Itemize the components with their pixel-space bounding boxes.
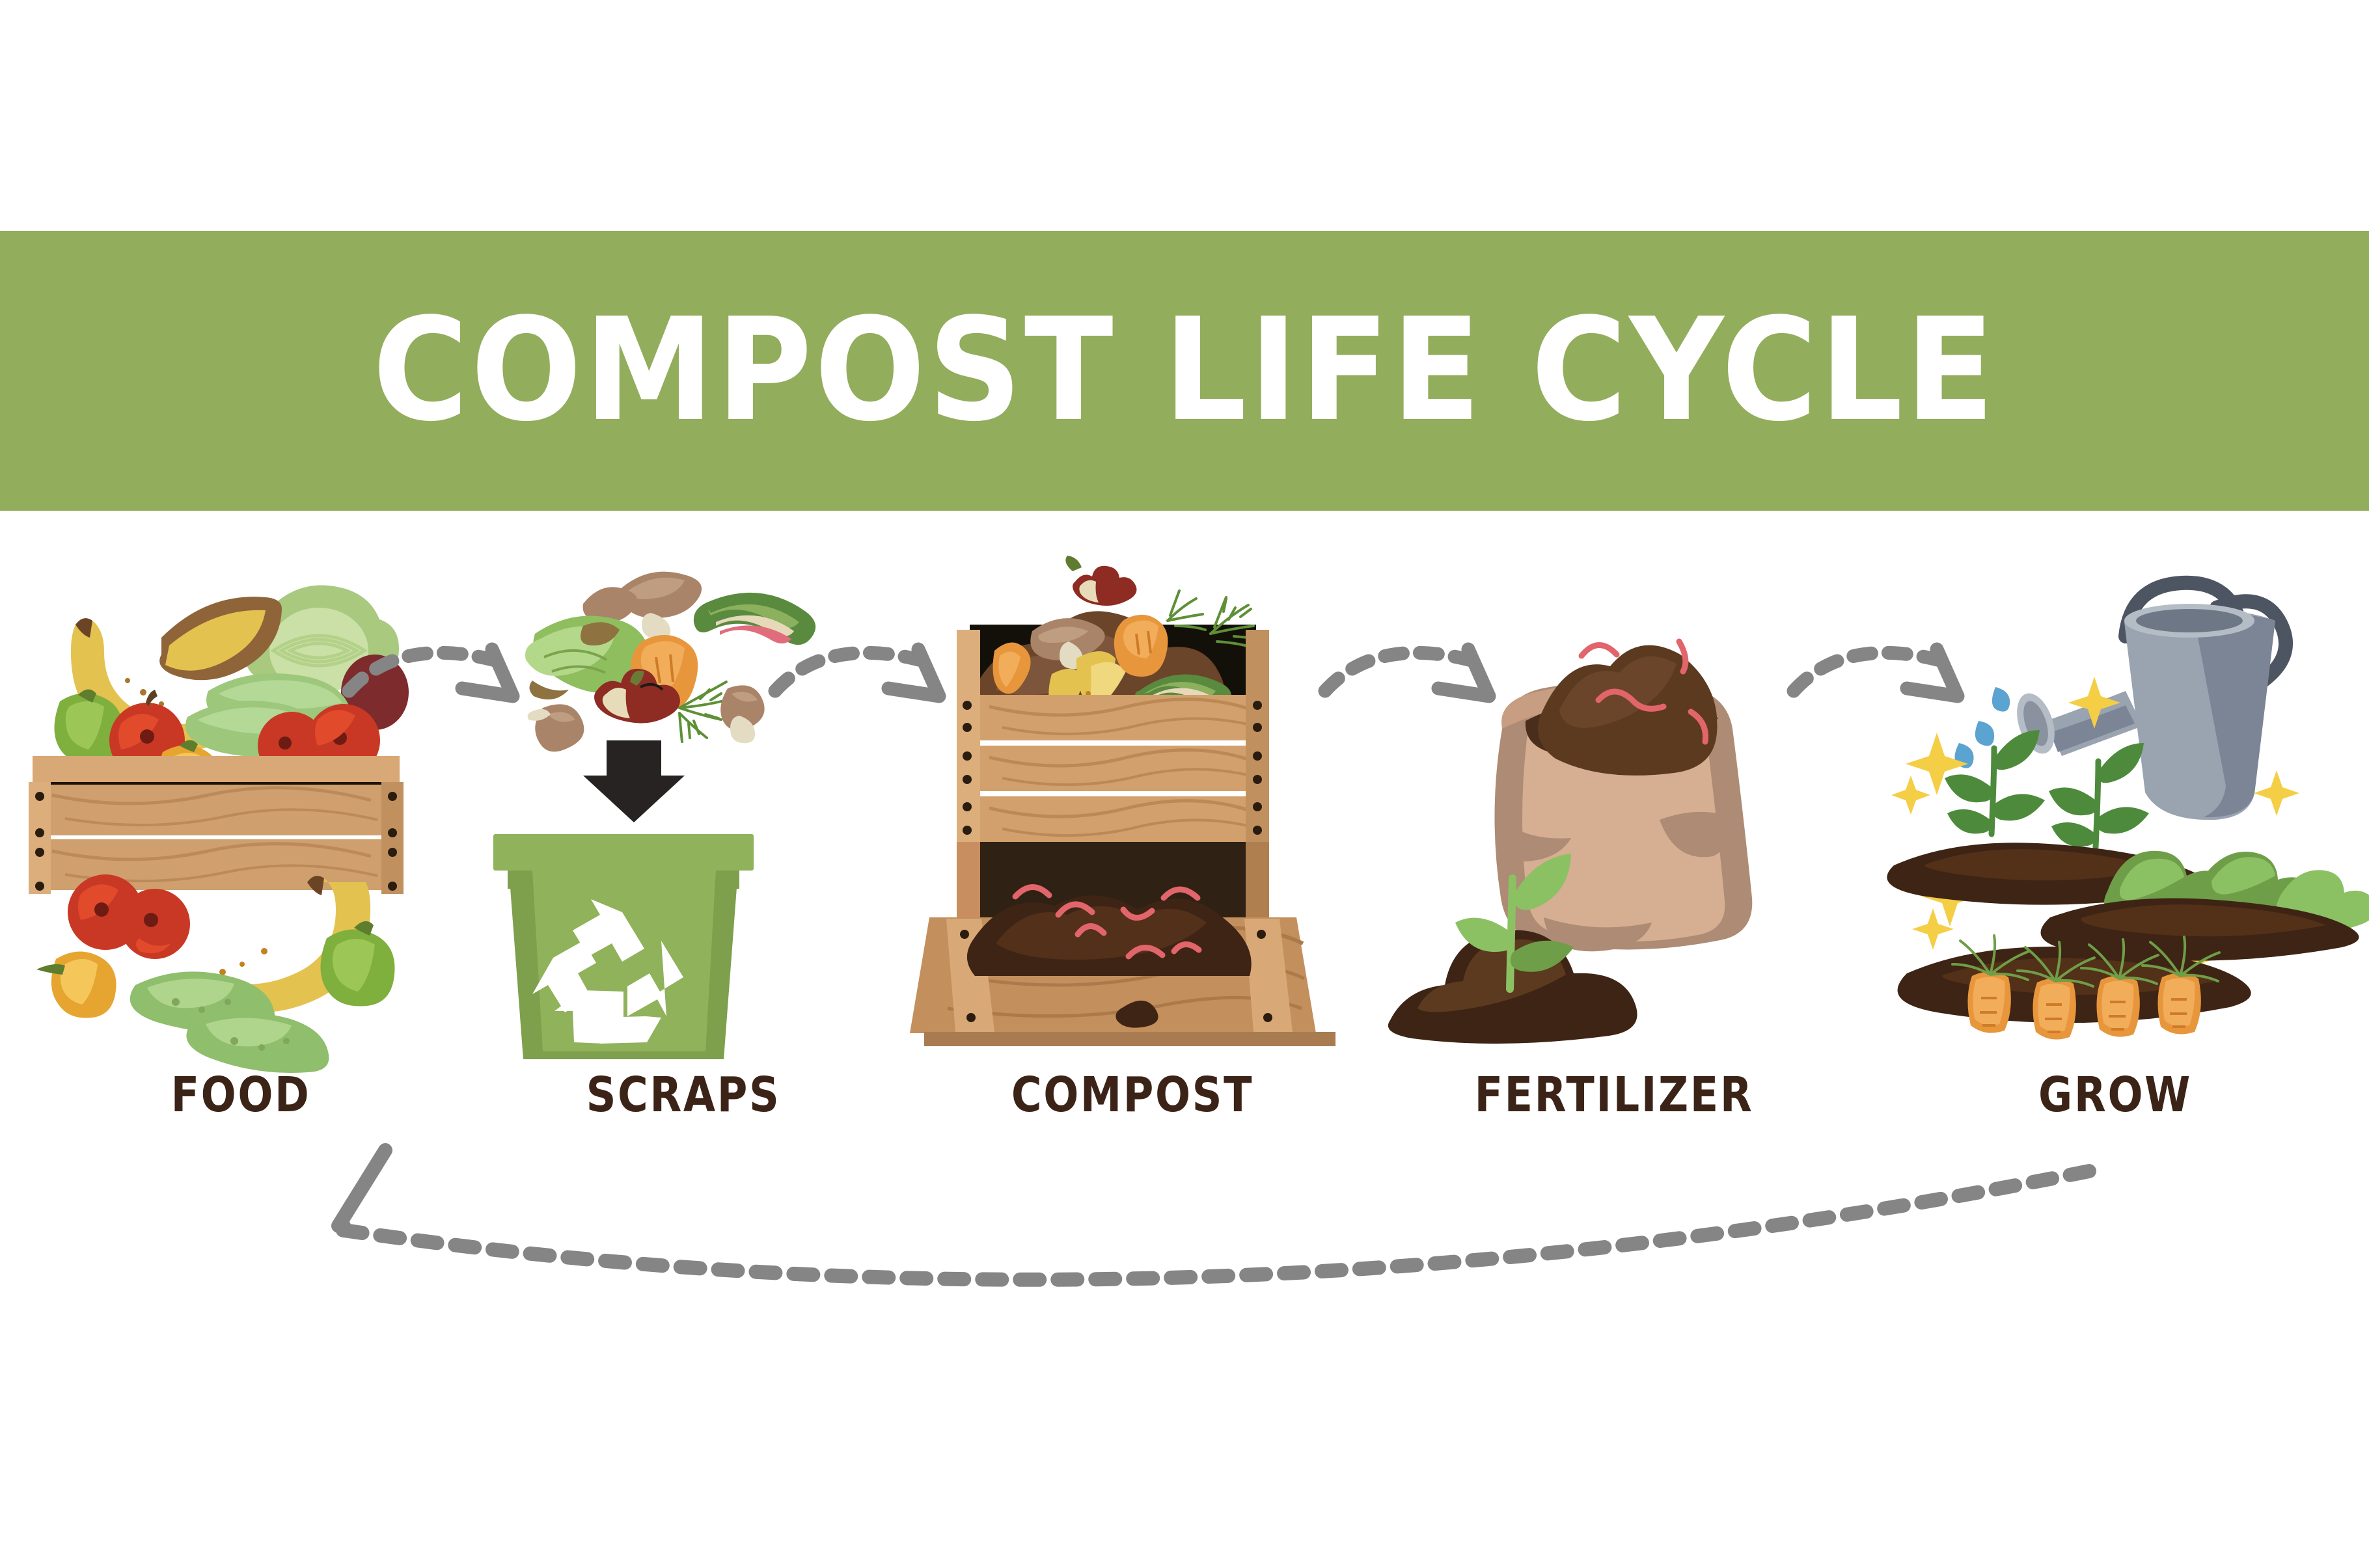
stage-label-grow: GROW: [1919, 1067, 2311, 1123]
stage-label-scraps: SCRAPS: [487, 1067, 879, 1123]
page-header-banner: COMPOST LIFE CYCLE: [0, 231, 2369, 511]
arrow-fertilizer-to-grow: [1783, 618, 2005, 735]
compost-in-sack-shape: [1538, 642, 1718, 776]
stage-label-compost: COMPOST: [937, 1067, 1328, 1123]
wooden-crate-shape: [29, 756, 404, 894]
page-title: COMPOST LIFE CYCLE: [372, 300, 1997, 442]
down-arrow-icon: [583, 740, 685, 822]
bin-lid-shape: [493, 834, 754, 871]
stage-label-fertilizer: FERTILIZER: [1418, 1067, 1810, 1123]
green-pepper-front-shape: [320, 921, 394, 1007]
arrow-compost-to-fertilizer: [1315, 618, 1536, 735]
arrow-food-to-scraps: [338, 618, 560, 735]
arrow-grow-to-food: [293, 1132, 2128, 1262]
stage-label-food: FOOD: [45, 1067, 437, 1123]
yellow-pepper-front-shape: [36, 951, 116, 1018]
watering-can-icon: [2010, 583, 2286, 820]
arrow-scraps-to-compost: [765, 618, 986, 735]
